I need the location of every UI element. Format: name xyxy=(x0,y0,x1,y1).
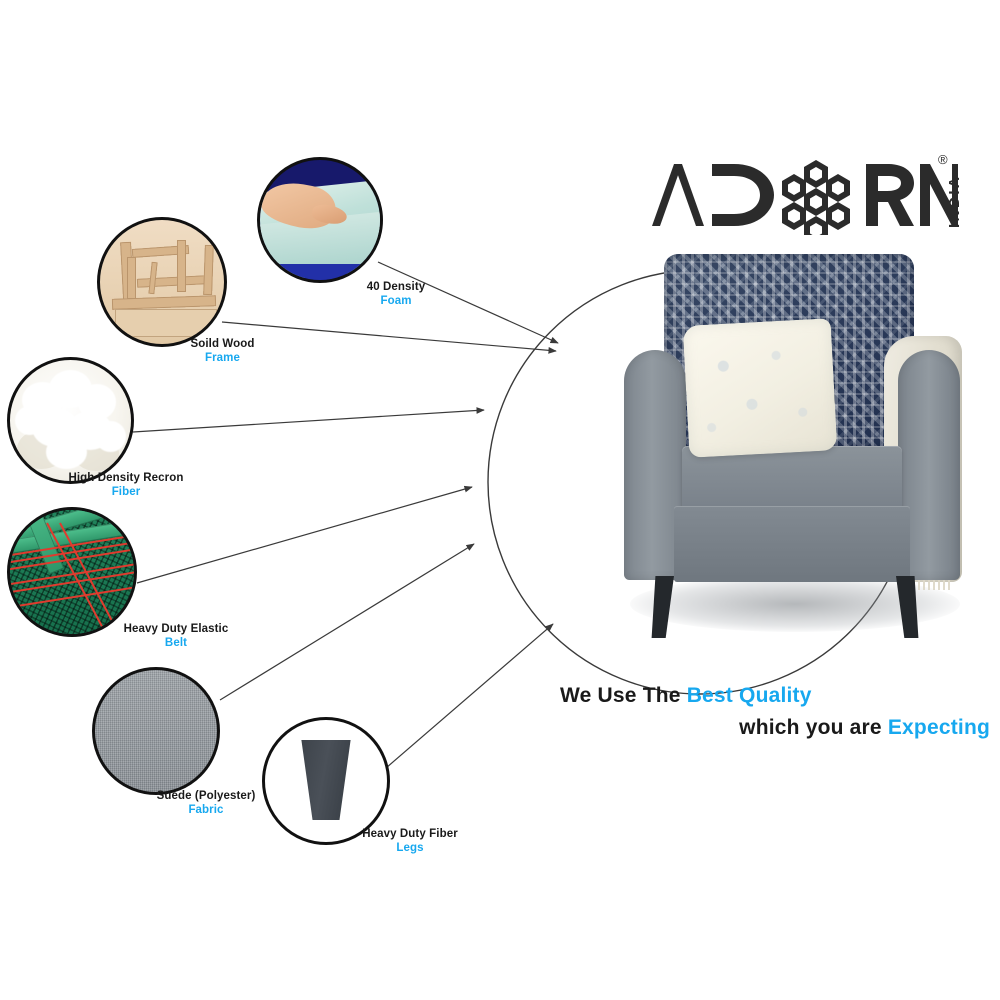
tagline-line-1: We Use The Best Quality xyxy=(560,684,990,708)
adorn-wordmark xyxy=(648,150,958,235)
feature-fabric-line1: Suede (Polyester) xyxy=(140,790,272,804)
honeycomb-hexagon-icon xyxy=(782,160,850,235)
feature-fiber-line2: Fiber xyxy=(56,486,196,500)
feature-fabric-line2: Fabric xyxy=(140,804,272,818)
feature-legs-line2: Legs xyxy=(346,842,474,856)
feature-belt-caption: Heavy Duty Elastic Belt xyxy=(110,623,242,650)
tagline-l2-dark: which you are xyxy=(739,716,888,739)
recron-fiber-icon xyxy=(7,357,134,484)
feature-fiber-caption: High Density Recron Fiber xyxy=(56,472,196,499)
brand-logo[interactable]: INDIA ® xyxy=(648,150,958,235)
feature-belt-line1: Heavy Duty Elastic xyxy=(110,623,242,637)
feature-foam-line1: 40 Density xyxy=(336,281,456,295)
wire-fabric xyxy=(220,544,474,700)
tagline-line-2: which you are Expecting xyxy=(560,716,990,740)
feature-belt-line2: Belt xyxy=(110,637,242,651)
feature-foam-caption: 40 Density Foam xyxy=(336,281,456,308)
feature-fabric-caption: Suede (Polyester) Fabric xyxy=(140,790,272,817)
registered-mark: ® xyxy=(938,152,948,167)
density-foam-icon xyxy=(257,157,383,283)
fiber-leg-icon xyxy=(262,717,390,845)
feature-legs-line1: Heavy Duty Fiber xyxy=(346,828,474,842)
wire-belt xyxy=(137,487,472,583)
tagline-l1-dark: We Use The xyxy=(560,684,687,707)
solid-wood-frame-icon xyxy=(97,217,227,347)
feature-frame-line2: Frame xyxy=(160,352,285,366)
infographic-canvas: Soild Wood Frame 40 Density Foam xyxy=(0,0,1000,1000)
product-image-armchair[interactable] xyxy=(612,250,992,650)
wire-legs xyxy=(386,624,553,768)
feature-legs-caption: Heavy Duty Fiber Legs xyxy=(346,828,474,855)
feature-foam-line2: Foam xyxy=(336,295,456,309)
tagline: We Use The Best Quality which you are Ex… xyxy=(560,684,990,740)
tagline-l1-blue: Best Quality xyxy=(687,684,812,707)
wire-fiber xyxy=(133,410,484,432)
brand-sub-india: INDIA xyxy=(946,175,963,228)
accent-pillow xyxy=(683,318,838,458)
suede-fabric-icon xyxy=(92,667,220,795)
feature-frame-caption: Soild Wood Frame xyxy=(160,338,285,365)
feature-frame-line1: Soild Wood xyxy=(160,338,285,352)
tagline-l2-blue: Expecting xyxy=(888,716,990,739)
elastic-belt-icon xyxy=(7,507,137,637)
base-front xyxy=(674,506,910,582)
feature-fiber-line1: High Density Recron xyxy=(56,472,196,486)
